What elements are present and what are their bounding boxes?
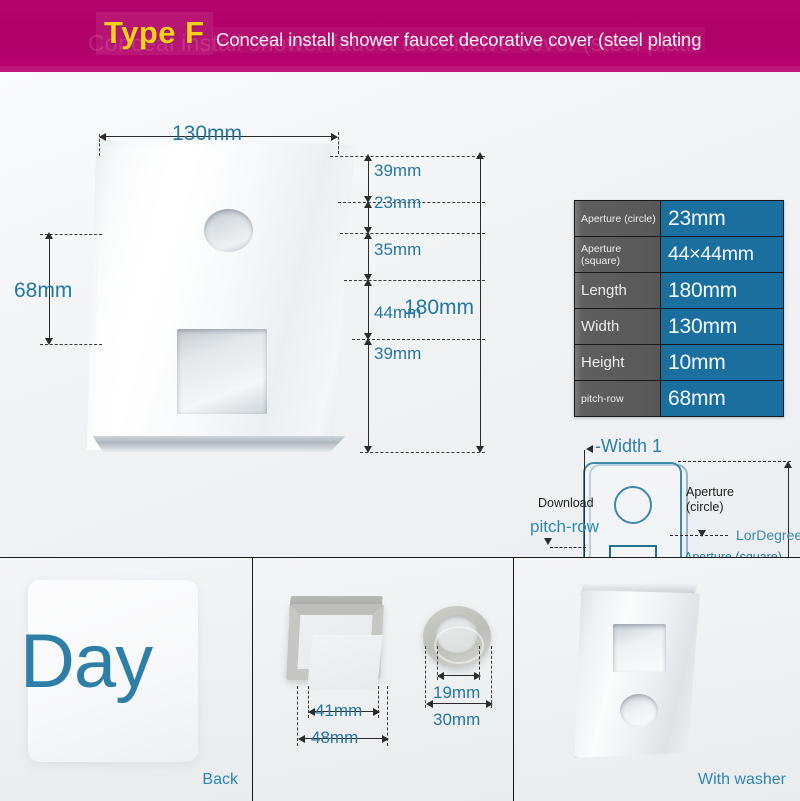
spec-value: 23mm bbox=[661, 201, 783, 236]
sq-inner-arrow-r bbox=[373, 708, 380, 716]
width-arrow-left bbox=[99, 133, 106, 141]
seg-line-4 bbox=[368, 343, 369, 448]
seg-ext-5 bbox=[360, 452, 485, 453]
seg-line-3 bbox=[368, 284, 369, 335]
seg-label-4: 39mm bbox=[374, 344, 421, 364]
washer-plate-photo bbox=[572, 582, 704, 758]
panel-caption-with-washer: With washer bbox=[698, 771, 786, 789]
schematic-pitch-arrow bbox=[544, 538, 552, 545]
rd-outer-arrow-r bbox=[486, 700, 493, 708]
washer-plate-body bbox=[572, 590, 700, 758]
schematic-dash-top bbox=[678, 461, 791, 462]
spec-value: 44×44mm bbox=[661, 237, 783, 272]
rd-outer-dim-line bbox=[428, 703, 490, 704]
pitch-arrow-up bbox=[45, 232, 53, 239]
panel-with-washer: With washer bbox=[514, 558, 800, 801]
banner-subtitle: Conceal install shower faucet decorative… bbox=[212, 27, 705, 53]
panel-caption-back: Back bbox=[202, 771, 238, 789]
seg-arrow-1-up bbox=[364, 201, 372, 208]
round-gasket-lip bbox=[434, 626, 484, 664]
seg-ext-0 bbox=[330, 156, 485, 157]
total-arrow-down bbox=[476, 446, 484, 453]
schematic-length-label: LorDegree bbox=[736, 527, 800, 543]
type-badge: Type F bbox=[96, 12, 213, 55]
seg-line-2 bbox=[368, 237, 369, 276]
schematic-download-label: Download bbox=[538, 496, 594, 510]
product-spec-image: Conceal install shower faucet decorative… bbox=[0, 0, 800, 800]
header-banner: Conceal install shower faucet decorative… bbox=[0, 0, 800, 72]
schematic-ac-arrow bbox=[698, 530, 706, 537]
spec-key: Height bbox=[575, 345, 661, 380]
plate-circle-aperture bbox=[204, 209, 253, 252]
total-height-label: 180mm bbox=[404, 296, 474, 320]
spec-value: 10mm bbox=[661, 345, 783, 380]
main-diagram-area: 130mm 68mm 39mm 23mm 35mm 44mm bbox=[0, 72, 800, 557]
washer-plate-square-aperture bbox=[613, 624, 666, 672]
schematic-pitch-row-label: pitch-row bbox=[530, 517, 599, 537]
spec-value: 130mm bbox=[661, 309, 783, 344]
schematic-aperture-circle-label2: (circle) bbox=[686, 500, 724, 514]
square-gasket bbox=[288, 596, 384, 686]
plate-bottom-edge bbox=[90, 436, 348, 452]
seg-arrow-0-up bbox=[364, 154, 372, 161]
rd-inner-arrow-r bbox=[474, 672, 481, 680]
schematic-aperture-circle-label: Aperture bbox=[686, 485, 734, 499]
product-plate-photo bbox=[80, 140, 355, 460]
total-height-line bbox=[480, 158, 481, 450]
seg-arrow-4-dn bbox=[364, 446, 372, 453]
seg-line-0 bbox=[368, 160, 369, 198]
square-gasket-frame bbox=[286, 604, 384, 680]
sq-inner-arrow-l bbox=[308, 708, 315, 716]
table-row: Height 10mm bbox=[575, 345, 783, 381]
schematic-width-arrow bbox=[586, 445, 593, 453]
rd-inner-arrow-l bbox=[437, 672, 444, 680]
bottom-panel-strip: Day Back 41mm bbox=[0, 557, 800, 801]
schematic-width-label: -Width 1 bbox=[595, 436, 662, 457]
washer-plate-circle-aperture bbox=[620, 694, 658, 727]
specification-table: Aperture (circle) 23mm Aperture (square)… bbox=[574, 200, 784, 417]
panel-gaskets: 41mm 48mm 19mm 30mm bbox=[253, 558, 514, 801]
spec-key: Aperture (circle) bbox=[575, 201, 661, 236]
schematic-pitch-dash bbox=[550, 547, 586, 548]
sq-outer-arrow-l bbox=[298, 735, 305, 743]
spec-key: pitch-row bbox=[575, 381, 661, 416]
rd-outer-arrow-l bbox=[426, 700, 433, 708]
schematic-length-arrow-up bbox=[784, 461, 792, 468]
width-arrow-right bbox=[331, 133, 338, 141]
sq-outer-arrow-r bbox=[382, 735, 389, 743]
pitch-arrow-down bbox=[45, 338, 53, 345]
spec-value: 180mm bbox=[661, 273, 783, 308]
width-ext-right bbox=[338, 132, 339, 154]
seg-ext-2 bbox=[340, 233, 485, 234]
spec-key: Aperture (square) bbox=[575, 237, 661, 272]
panel-back-view: Day Back bbox=[0, 558, 253, 801]
rd-inner-dim-line bbox=[439, 675, 477, 676]
sq-inner-label: 41mm bbox=[315, 701, 362, 721]
table-row: Aperture (square) 44×44mm bbox=[575, 237, 783, 273]
rd-inner-label: 19mm bbox=[433, 683, 480, 703]
rd-outer-label: 30mm bbox=[433, 710, 480, 730]
spec-key: Width bbox=[575, 309, 661, 344]
width-dim-label: 130mm bbox=[172, 122, 242, 146]
schematic-circle-aperture bbox=[614, 486, 652, 524]
square-gasket-inner bbox=[307, 635, 383, 690]
table-row: Aperture (circle) 23mm bbox=[575, 201, 783, 237]
seg-arrow-4-up bbox=[364, 338, 372, 345]
table-row: Width 130mm bbox=[575, 309, 783, 345]
total-arrow-up bbox=[476, 152, 484, 159]
seg-arrow-3-up bbox=[364, 279, 372, 286]
seg-label-2: 35mm bbox=[374, 240, 421, 260]
round-gasket bbox=[423, 606, 491, 668]
day-watermark: Day bbox=[20, 624, 152, 700]
seg-line-1 bbox=[368, 206, 369, 229]
pitch-dim-label: 68mm bbox=[14, 279, 72, 303]
seg-arrow-2-up bbox=[364, 232, 372, 239]
table-row: Length 180mm bbox=[575, 273, 783, 309]
seg-label-1: 23mm bbox=[374, 193, 421, 213]
spec-value: 68mm bbox=[661, 381, 783, 416]
sq-outer-label: 48mm bbox=[311, 728, 358, 748]
spec-key: Length bbox=[575, 273, 661, 308]
plate-square-aperture bbox=[177, 329, 267, 414]
table-row: pitch-row 68mm bbox=[575, 381, 783, 416]
seg-label-0: 39mm bbox=[374, 161, 421, 181]
